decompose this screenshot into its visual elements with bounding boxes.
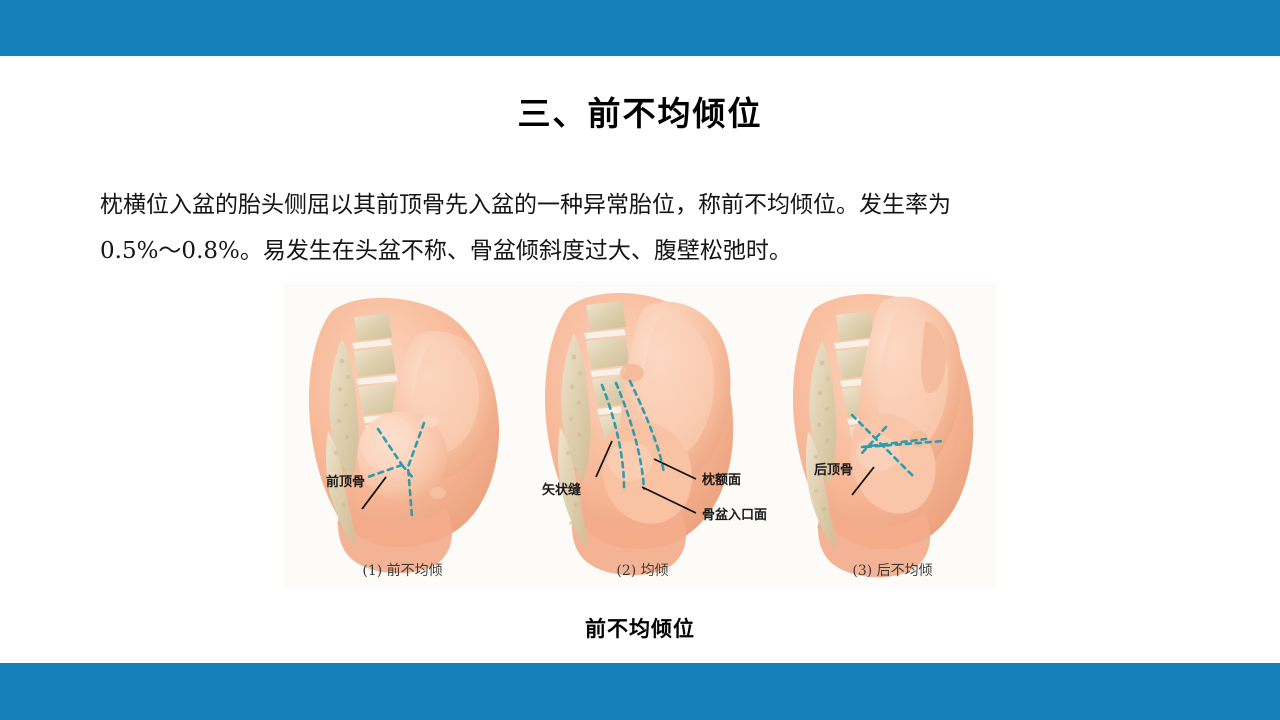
synclitism-illustration <box>524 281 761 588</box>
label-sagittal-suture: 矢状缝 <box>542 479 581 498</box>
panel-synclitism: 矢状缝 枕额面 骨盆入口面 (2) 均倾 <box>524 281 761 588</box>
body-line-2: 0.5%～0.8%。易发生在头盆不称、骨盆倾斜度过大、腹壁松弛时。 <box>100 228 1110 274</box>
panel-posterior-asynclitism: 后顶骨 (3) 后不均倾 <box>774 281 996 588</box>
slide-canvas: 三、前不均倾位 枕横位入盆的胎头侧屈以其前顶骨先入盆的一种异常胎位，称前不均倾位… <box>0 0 1280 720</box>
caption-panel-1: (1) 前不均倾 <box>284 560 521 580</box>
figure-panels: 前顶骨 (1) 前不均倾 <box>284 281 996 588</box>
caption-panel-3: (3) 后不均倾 <box>774 560 996 580</box>
anterior-asynclitism-illustration <box>284 281 521 588</box>
label-anterior-parietal: 前顶骨 <box>326 471 365 490</box>
label-occipitofrontal-plane: 枕额面 <box>702 469 741 488</box>
panel-anterior-asynclitism: 前顶骨 (1) 前不均倾 <box>284 281 521 588</box>
anatomy-figure: 前顶骨 (1) 前不均倾 <box>284 281 996 588</box>
posterior-asynclitism-illustration <box>774 281 996 588</box>
fontanelle-bump-lower <box>430 487 446 499</box>
caption-panel-2: (2) 均倾 <box>524 560 761 580</box>
body-paragraph: 枕横位入盆的胎头侧屈以其前顶骨先入盆的一种异常胎位，称前不均倾位。发生率为 0.… <box>100 182 1110 274</box>
top-accent-bar <box>0 0 1280 56</box>
ear-detail <box>620 364 644 382</box>
body-line-1: 枕横位入盆的胎头侧屈以其前顶骨先入盆的一种异常胎位，称前不均倾位。发生率为 <box>100 182 1110 228</box>
page-title: 三、前不均倾位 <box>0 96 1280 132</box>
bottom-accent-bar <box>0 663 1280 720</box>
fetal-head-highlight <box>360 415 416 471</box>
label-pelvic-inlet-plane: 骨盆入口面 <box>702 504 767 523</box>
label-posterior-parietal: 后顶骨 <box>814 459 853 478</box>
figure-caption: 前不均倾位 <box>0 613 1280 643</box>
presenting-part-highlight <box>608 441 652 481</box>
